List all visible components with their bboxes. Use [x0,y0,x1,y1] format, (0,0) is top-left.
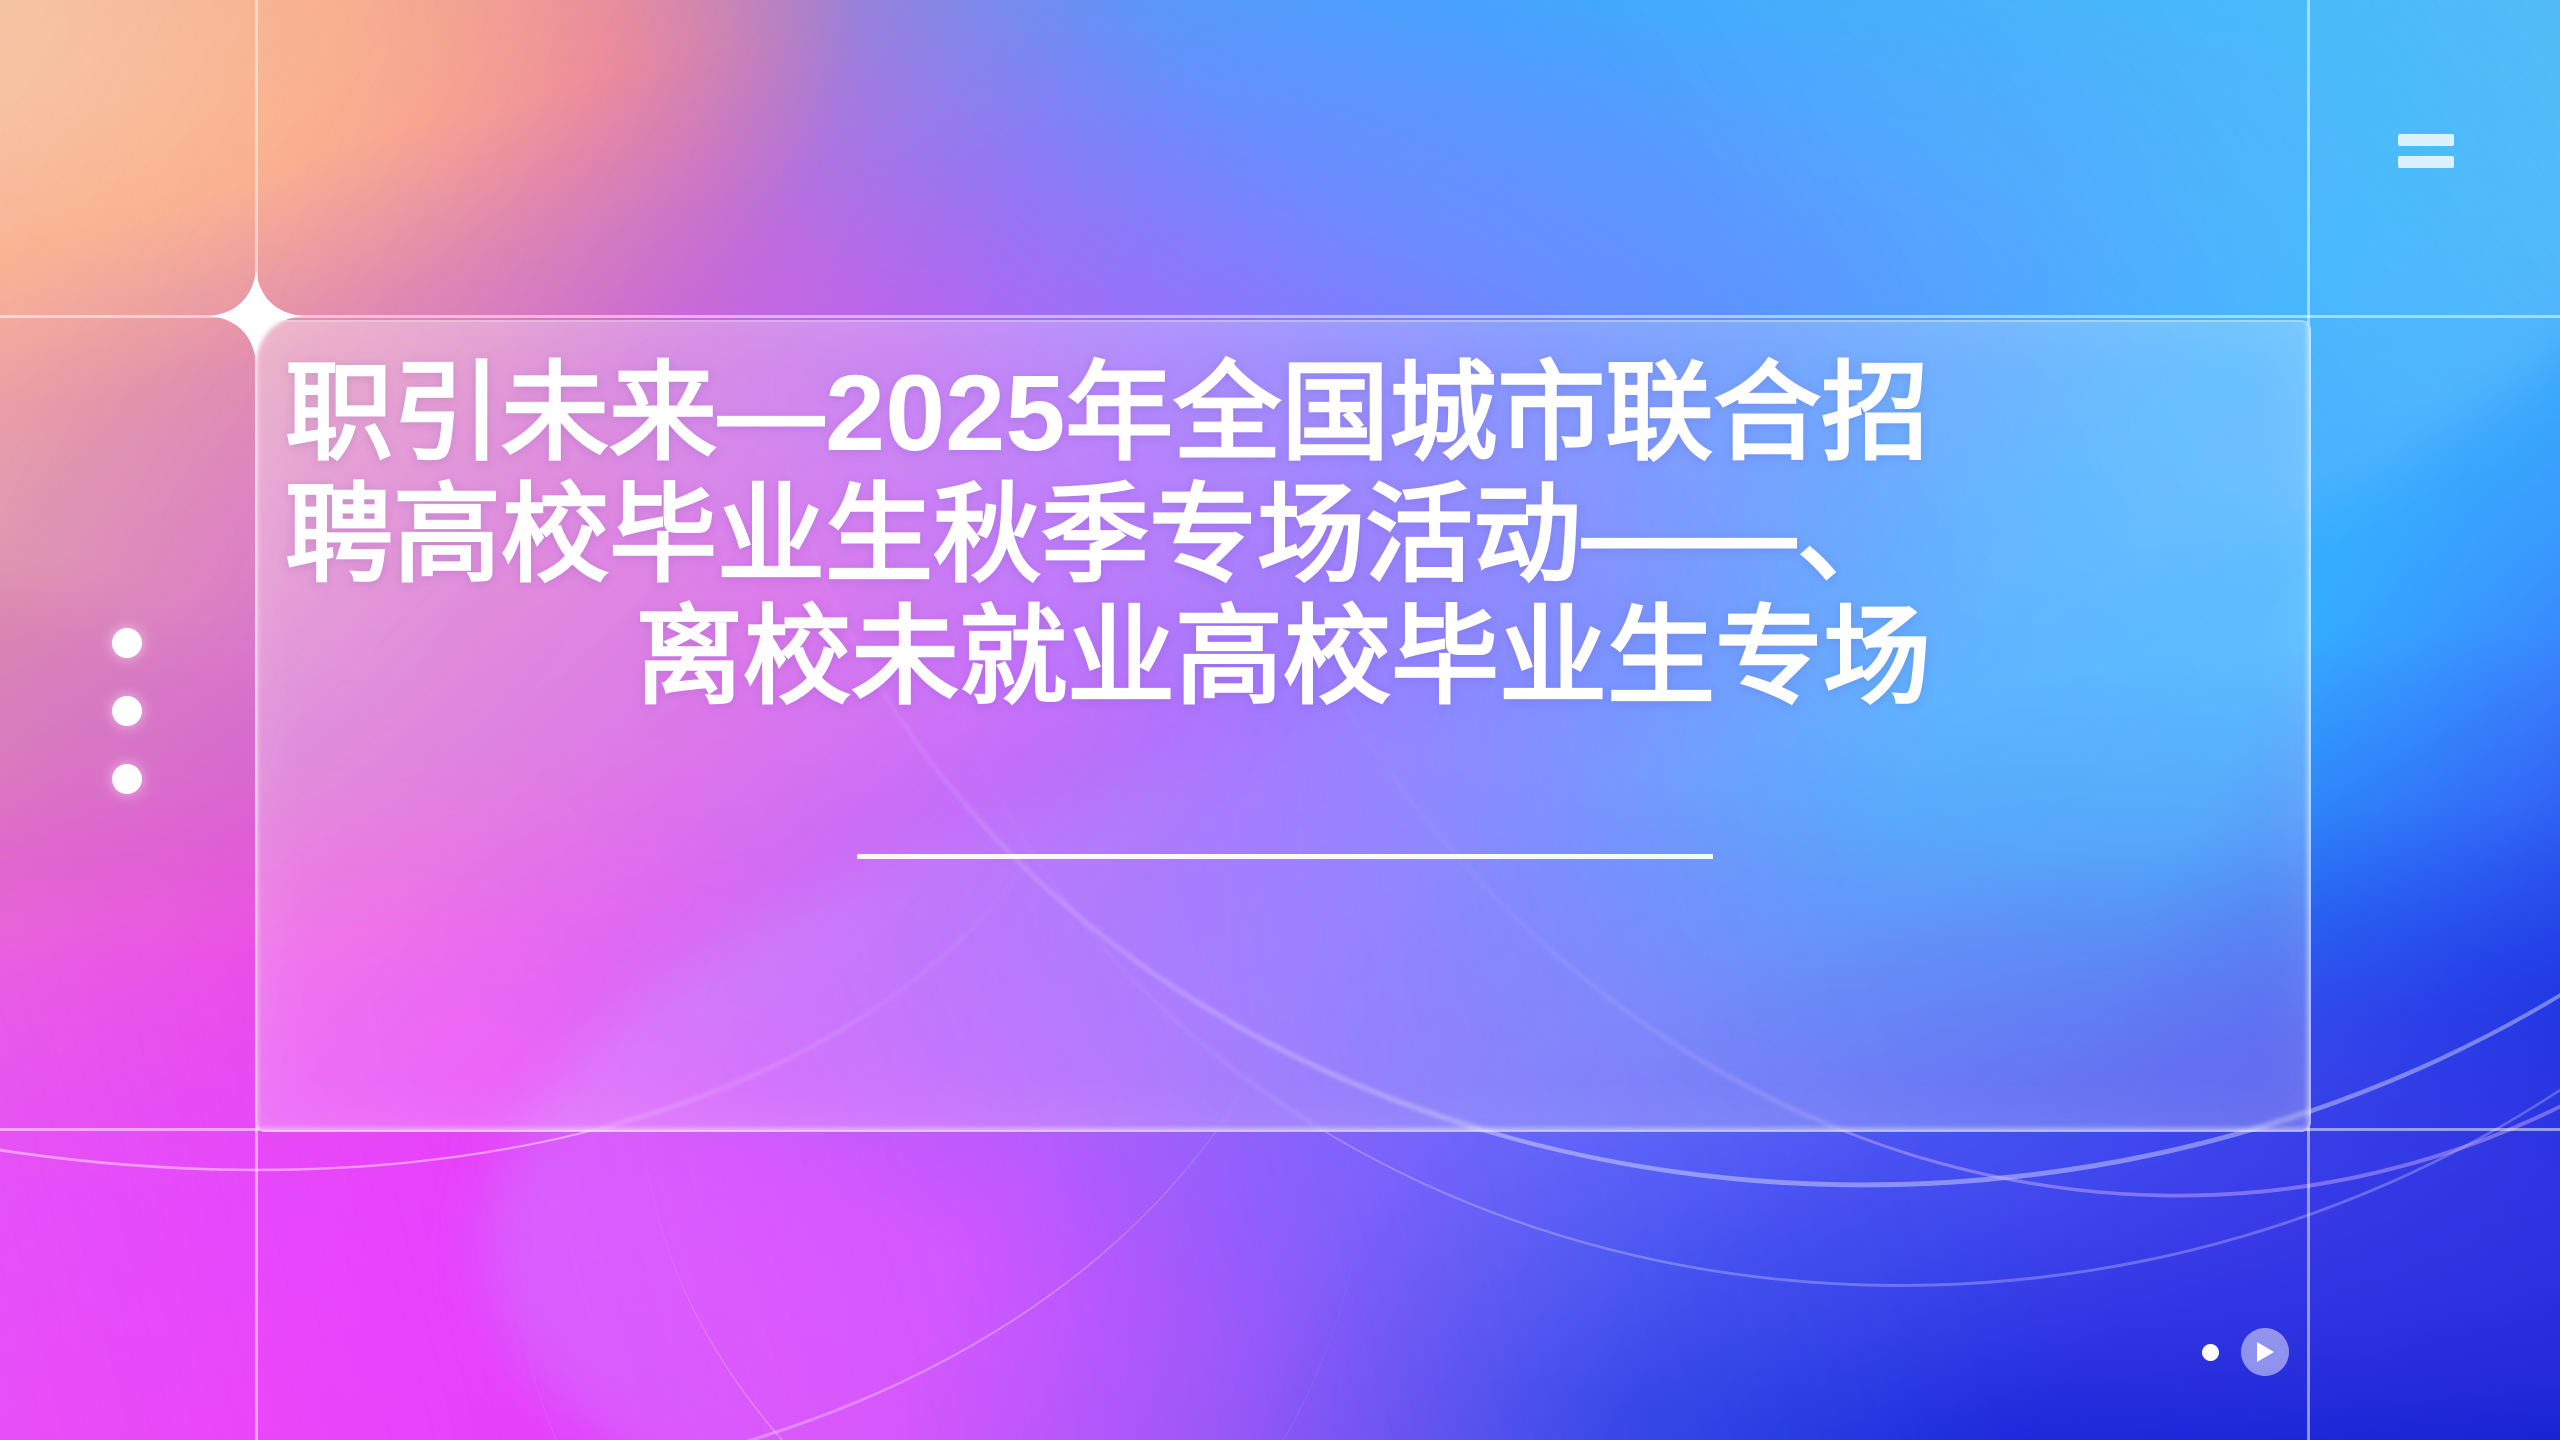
hamburger-menu-icon-bar-top [2398,134,2454,146]
title-line-2: 聘高校毕业生秋季专场活动——、 [273,474,2293,596]
play-button[interactable] [2241,1328,2289,1376]
slide-stage: 职引未来—2025年全国城市联合招 聘高校毕业生秋季专场活动——、 离校未就业高… [0,0,2560,1440]
title-line-1: 职引未来—2025年全国城市联合招 [273,352,2293,474]
left-pagination-dot-1[interactable] [112,628,142,658]
page-title: 职引未来—2025年全国城市联合招 聘高校毕业生秋季专场活动——、 离校未就业高… [257,352,2309,718]
title-underline [857,854,1713,859]
hamburger-menu-button[interactable] [2398,132,2454,172]
carousel-indicator-dot[interactable] [2202,1344,2219,1361]
player-controls[interactable] [2202,1328,2289,1376]
left-pagination-dots[interactable] [112,628,142,832]
left-pagination-dot-2[interactable] [112,696,142,726]
title-line-3: 离校未就业高校毕业生专场 [273,596,2293,718]
left-pagination-dot-3[interactable] [112,764,142,794]
title-card: 职引未来—2025年全国城市联合招 聘高校毕业生秋季专场活动——、 离校未就业高… [255,320,2311,1132]
hamburger-menu-icon-bar-bottom [2398,156,2454,168]
play-icon [2254,1340,2276,1364]
